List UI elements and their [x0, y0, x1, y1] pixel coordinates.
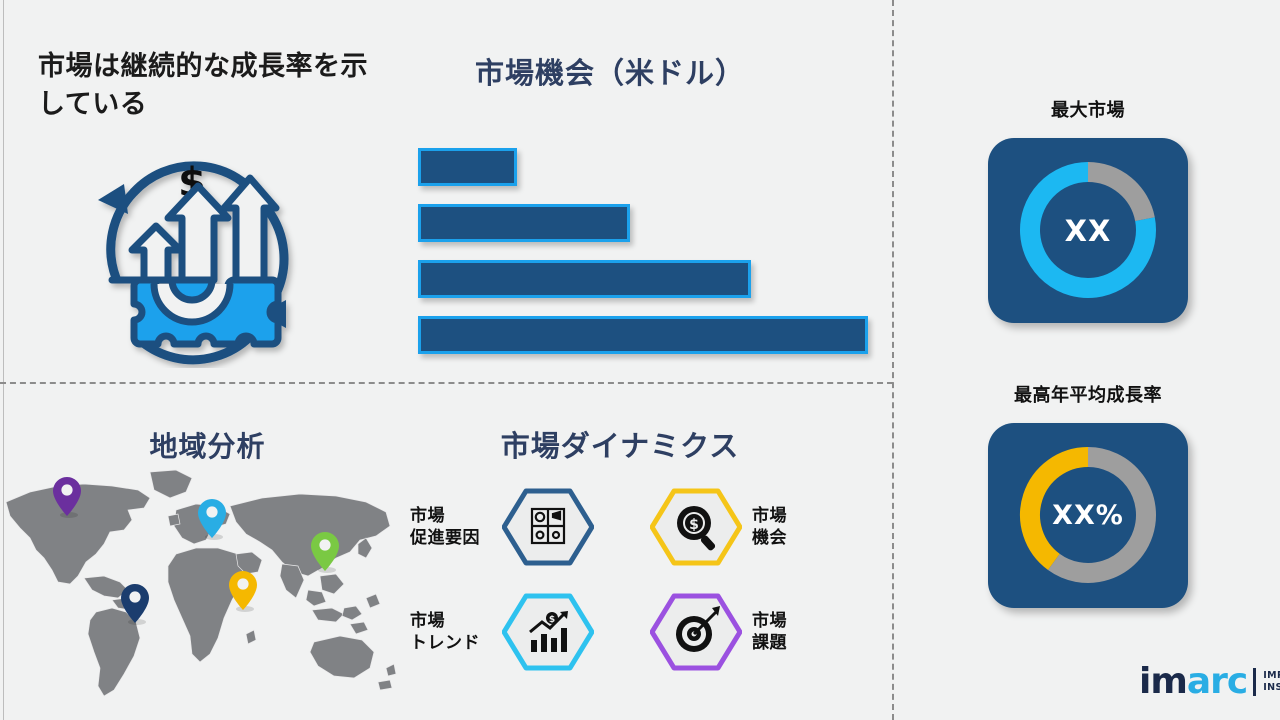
growth-gear-arrows-icon: $: [72, 128, 312, 368]
dynamics-label-drivers: 市場 促進要因: [410, 505, 502, 549]
dynamics-item-drivers[interactable]: 市場 促進要因: [410, 487, 594, 567]
world-map: [0, 458, 400, 706]
hexagon-challenges[interactable]: [650, 592, 742, 672]
horizontal-divider: [0, 382, 893, 384]
opportunity-panel-title: 市場機会（米ドル）: [400, 50, 820, 92]
pin-europe[interactable]: [197, 498, 227, 544]
pin-south-america[interactable]: [120, 583, 150, 629]
bar-1: [418, 148, 517, 186]
dynamics-label-opportunities: 市場 機会: [752, 505, 832, 549]
pin-africa[interactable]: [228, 570, 258, 616]
donut-card-highest-cagr: XX%: [988, 423, 1188, 608]
donut-card-largest-market: XX: [988, 138, 1188, 323]
imarc-logo: im arc IMPACTFUL INSIGHTS: [1139, 662, 1280, 702]
slide-canvas: 市場は継続的な成長率を示している $: [0, 0, 1280, 720]
donut-value-highest-cagr: XX%: [988, 423, 1188, 608]
donut-value-largest-market: XX: [988, 138, 1188, 323]
bar-3: [418, 260, 751, 298]
svg-text:$: $: [689, 517, 699, 533]
bar-2: [418, 204, 630, 242]
logo-divider: [1253, 668, 1256, 696]
donut-title-largest-market: 最大市場: [958, 96, 1218, 122]
logo-tagline: IMPACTFUL INSIGHTS: [1263, 670, 1280, 694]
pin-east-asia[interactable]: [310, 531, 340, 577]
dynamics-item-trends[interactable]: 市場 トレンド $: [410, 592, 594, 672]
bar-4: [418, 316, 868, 354]
dynamics-item-challenges[interactable]: 市場 課題: [650, 592, 832, 672]
opportunity-bar-chart: [418, 148, 878, 348]
donut-title-highest-cagr: 最高年平均成長率: [958, 381, 1218, 407]
hexagon-drivers[interactable]: [502, 487, 594, 567]
growth-panel-title: 市場は継続的な成長率を示している: [38, 48, 383, 125]
logo-text-arc: arc: [1187, 664, 1247, 700]
hexagon-trends[interactable]: $: [502, 592, 594, 672]
hexagon-opportunities[interactable]: $: [650, 487, 742, 567]
dynamics-label-challenges: 市場 課題: [752, 610, 832, 654]
vertical-divider: [892, 0, 894, 720]
dynamics-item-opportunities[interactable]: $ 市場 機会: [650, 487, 832, 567]
dynamics-panel-title: 市場ダイナミクス: [400, 423, 840, 465]
logo-text-im: im: [1139, 664, 1187, 700]
pin-north-america[interactable]: [52, 476, 82, 522]
dynamics-label-trends: 市場 トレンド: [410, 610, 502, 654]
svg-text:$: $: [549, 615, 555, 625]
